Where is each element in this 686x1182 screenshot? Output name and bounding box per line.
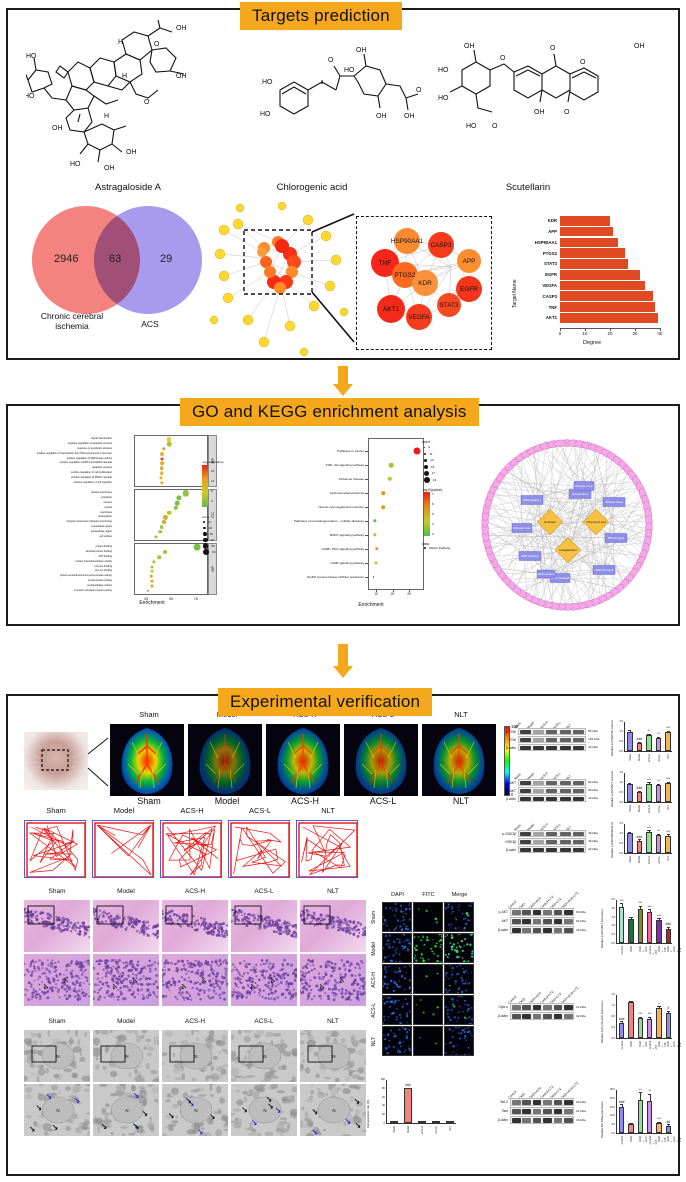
degree-bar-track: [560, 259, 660, 269]
blot-band: [543, 919, 552, 924]
blot-band: [543, 1109, 552, 1114]
go-term-label: positive regulation of MAPK cascade: [0, 476, 112, 479]
go-term-label: positive regulation of MAP kinase activi…: [0, 457, 112, 460]
svg-text:HO: HO: [26, 93, 35, 100]
blot-band: [512, 1014, 521, 1019]
bar-significance: ***: [620, 899, 624, 903]
bar: [646, 784, 652, 802]
svg-text:OH: OH: [176, 25, 187, 32]
tem-image-acs-h-bottom: N: [162, 1084, 228, 1136]
go-xtick: 75: [194, 597, 198, 601]
bar-errorbar: [631, 1001, 632, 1002]
go-legend-tick: 12: [211, 476, 214, 486]
network-pathway-label: Pathways of neur: [575, 485, 593, 488]
bar-errorbar-cap: [639, 906, 642, 907]
bar-xtick-label: ACS-L: [658, 754, 661, 762]
blot-protein-label: β-actin: [484, 928, 508, 932]
bar-xtick-label: ACS-H: [421, 1126, 424, 1134]
openfield-trace-acs-l: [228, 820, 290, 878]
bar: [628, 1124, 633, 1133]
blot-band: [522, 928, 531, 933]
bar-xtick-label: OGD: [630, 946, 633, 952]
degree-tick-label: 0: [559, 331, 561, 336]
tem-label-model: Model: [93, 1018, 159, 1025]
he-image-nlt-top: [300, 900, 366, 952]
bar-significance: ***: [647, 826, 651, 830]
kegg-legend-size-label: 13: [430, 458, 433, 462]
targets-prediction-panel: OHHO HOOH OHH HH HOOH OHO O: [6, 8, 680, 360]
go-dotplot: BPsignal transductionnegative regulation…: [16, 434, 248, 614]
kegg-legend-color-tick: 7: [432, 492, 434, 496]
bar-ytick-label: 10.0: [603, 1114, 615, 1117]
he-image-acs-l-bottom: [231, 954, 297, 1006]
bar-significance: **: [639, 1088, 642, 1092]
go-term-label: cell surface: [0, 535, 112, 538]
go-term-label: protein homodimerization activity: [0, 560, 112, 563]
compound-label-scutellarin: Scutellarin: [448, 182, 608, 193]
bar-errorbar-cap: [639, 1092, 642, 1093]
bar-errorbar: [639, 742, 640, 743]
bar-errorbar: [630, 783, 631, 784]
tunel-image-sham-dapi: [382, 902, 412, 932]
go-term-label: apoptotic process: [0, 466, 112, 469]
tem-image-acs-l-top: N: [231, 1030, 297, 1082]
svg-text:O: O: [492, 123, 498, 130]
bar: [665, 836, 671, 853]
chlorogenic-acid-structure: HOHO OHO HOO OHOH: [260, 44, 430, 154]
bar-errorbar-cap: [647, 830, 650, 831]
blot-band: [522, 1005, 531, 1010]
bar-ytick-label: 0.5: [603, 933, 615, 936]
bar-ytick-label: 1.0: [603, 924, 615, 927]
blot-band: [533, 919, 542, 924]
go-term-label: response to xenobiotic stimulus: [0, 447, 112, 450]
blot-band: [520, 832, 531, 836]
tunel-image-acs-l-dapi: [382, 995, 412, 1025]
blot-protein-label: AKT: [494, 789, 516, 793]
kegg-xtick-label: 20: [391, 592, 395, 596]
degree-bar-track: [560, 302, 660, 312]
bar-significance: ***: [648, 905, 652, 909]
bar: [656, 785, 662, 802]
bar-errorbar-cap: [628, 832, 631, 833]
kegg-plot-box: [368, 438, 424, 590]
bar-errorbar-cap: [620, 1104, 623, 1105]
blot-protein-label: p-GSK3β: [494, 832, 516, 836]
kegg-legend-color-tick: 3: [432, 532, 434, 536]
kegg-xlabel: Enrichment: [336, 602, 406, 608]
degree-bar-row: TNF: [526, 302, 660, 312]
blot-band: [546, 848, 557, 852]
degree-bar-track: [560, 216, 660, 226]
blot-band: [533, 1118, 542, 1123]
openfield-label-acs-l: ACS-L: [228, 806, 292, 815]
kegg-xtick-label: 25: [407, 592, 411, 596]
degree-bar-label: EGFR: [526, 272, 560, 277]
blot-kda-label: 12 kDa: [576, 1005, 586, 1009]
go-dot: [150, 570, 153, 573]
blot-band: [520, 848, 531, 852]
go-term-label: membrane: [0, 511, 112, 514]
blot-band: [512, 910, 521, 915]
bar-chart-ylabel: Relative Bcl-2/Bax expression: [600, 1088, 604, 1138]
bar-ytick-label: 20: [373, 1113, 385, 1116]
bar-significance: ***: [666, 830, 670, 834]
kegg-pathway-label: cGMP- PKG signaling pathway: [258, 547, 364, 551]
blot-band: [520, 746, 531, 750]
blot-protein-label: AKT: [484, 919, 508, 923]
blot-band: [560, 781, 571, 785]
go-dot: [167, 442, 172, 447]
svg-text:HO: HO: [466, 123, 477, 130]
bar-xtick-label: Control: [621, 946, 624, 954]
degree-bar: [560, 313, 658, 323]
bar-xtick-label: Control: [621, 1136, 624, 1144]
bar: [665, 783, 671, 802]
bar-errorbar: [631, 918, 632, 920]
go-term-label: integral component of plasma membrane: [0, 520, 112, 523]
bar-significance: ###: [619, 1017, 625, 1021]
bar: [637, 792, 643, 802]
blot-band: [520, 781, 531, 785]
svg-text:N: N: [263, 1108, 266, 1113]
bar-errorbar: [630, 730, 631, 731]
blot-band: [546, 746, 557, 750]
go-dot: [150, 580, 153, 583]
blot-kda-label: 60 kDa: [576, 910, 586, 914]
degree-bar-row: PTGS2: [526, 248, 660, 258]
bar-xtick-label: Sham: [629, 856, 632, 863]
kegg-pathway-label: Alzheimer disease: [258, 477, 364, 481]
blot-band: [564, 919, 573, 924]
blot-band: [522, 1109, 531, 1114]
bar-ytick-label: 25.0: [603, 1088, 615, 1091]
openfield-label-nlt: NLT: [296, 806, 360, 815]
bar-errorbar-cap: [638, 791, 641, 792]
blot-band: [533, 1100, 542, 1105]
bar-ytick-label: 15.0: [603, 1106, 615, 1109]
he-image-model-bottom: [93, 954, 159, 1006]
svg-text:H: H: [104, 113, 109, 120]
bar-ytick-label: 80: [373, 1087, 385, 1090]
network-pathway-label: cGMP-PKG signali: [594, 570, 614, 572]
blot-band: [533, 1109, 542, 1114]
bar: [656, 738, 662, 751]
bar-xtick-label: Model: [638, 856, 641, 863]
network-compound-label: Chlorogenic acid: [586, 520, 606, 524]
blot-band: [533, 781, 544, 785]
bar-errorbar: [640, 1017, 641, 1018]
blot-band: [560, 848, 571, 852]
bar-ytick-label: 0: [373, 1122, 385, 1125]
kegg-legend-size-dot: [424, 477, 430, 483]
network-pathway-label: cAMP signaling p: [521, 555, 539, 558]
speckle-image-acs-l: [344, 724, 418, 796]
blot-band: [533, 848, 544, 852]
blot-band: [543, 1014, 552, 1019]
go-term-label: protein binding: [0, 545, 112, 548]
bar-xtick-label: Sham: [629, 754, 632, 761]
bar-significance: ***: [638, 1012, 642, 1016]
blot-band: [546, 730, 557, 734]
bar-significance: ***: [666, 777, 670, 781]
bar-errorbar: [622, 1105, 623, 1107]
blot-band: [520, 789, 531, 793]
bar-chart-ylabel: Relative Cyto-c/β-actin expression: [600, 993, 604, 1043]
degree-bar-row: AKT1: [526, 313, 660, 323]
tunel-image-nlt-merge: [444, 1026, 474, 1056]
tem-image-acs-h-top: N: [162, 1030, 228, 1082]
blot-protein-label: β-actin: [484, 1014, 508, 1018]
degree-tick-label: 40: [658, 331, 663, 336]
go-legend-size-dot: [203, 538, 208, 543]
venn-count-intersection: 63: [109, 253, 121, 265]
bar-significance: **: [657, 779, 660, 783]
bar-ytick-label: 1.5: [603, 916, 615, 919]
kegg-legend-class-label: KEGG Pathway: [429, 546, 451, 550]
go-legend-color-title: -log_adj(pvalue): [202, 460, 248, 464]
bar-xtick-label: ACS-H: [648, 856, 651, 864]
bar-significance: ##: [666, 1120, 670, 1124]
tem-image-nlt-top: N: [300, 1030, 366, 1082]
blot-band: [573, 781, 584, 785]
bar: [627, 732, 633, 751]
go-term-label: extracellular region: [0, 530, 112, 533]
svg-text:N: N: [125, 1108, 128, 1113]
blot-protein-label: Cyto-c: [484, 1005, 508, 1009]
blot-group-invivo-1: ShamModelACS-HACS-LNLTp-AKT62 kDaAKT60 k…: [506, 767, 680, 817]
bar-xtick-label: OGD + LTZ: [658, 1136, 667, 1142]
bar-xtick-label: Control + LTZ: [649, 1136, 658, 1144]
bar-chart-plot: ###********: [624, 773, 672, 803]
tunel-row-label-text: Sham: [371, 911, 377, 924]
svg-text:HO: HO: [262, 79, 273, 86]
bar-xtick-label: OGD + LTZ: [658, 1041, 667, 1047]
blot-band: [573, 746, 584, 750]
tem-image-sham-top: N: [24, 1030, 90, 1082]
degree-bar-track: [560, 291, 660, 301]
bar-errorbar: [668, 835, 669, 836]
blot-band: [564, 1100, 573, 1105]
bar-ytick-label: 40: [373, 1104, 385, 1107]
blot-band: [573, 789, 584, 793]
blot-kda-label: 42 kDa: [588, 745, 598, 749]
degree-bar-track: [560, 238, 660, 248]
blot-kda-label: 85 kDa: [588, 729, 598, 733]
speckle-image-acs-h: [266, 724, 340, 796]
bar-significance: #: [667, 1006, 669, 1010]
blot-band: [546, 797, 557, 801]
degree-bar: [560, 291, 653, 301]
bar-errorbar: [640, 906, 641, 909]
degree-bar-row: KDR: [526, 216, 660, 226]
bar-errorbar-cap: [667, 834, 670, 835]
tem-image-model-top: N: [93, 1030, 159, 1082]
blot-band: [522, 1100, 531, 1105]
blot-chart-invivo-1: ###********ShamModelACS-HACS-LNLT0.00.51…: [610, 771, 680, 817]
go-dot: [151, 565, 154, 568]
go-term-label: positive regulation of transcription fro…: [0, 452, 112, 455]
tem-image-sham-bottom: N: [24, 1084, 90, 1136]
venn-label-acs: ACS: [130, 320, 170, 330]
kegg-legend-colorbar: [424, 492, 430, 536]
svg-text:AKT1: AKT1: [383, 306, 399, 313]
network-edge: [530, 556, 540, 602]
degree-bar-row: EGFR: [526, 270, 660, 280]
bar-errorbar: [639, 840, 640, 841]
go-term-label: signal transduction: [0, 437, 112, 440]
bar-errorbar: [649, 734, 650, 735]
kegg-pathway-label: EGFR tyrosine kinase inhibitor resistanc…: [258, 575, 364, 579]
go-legend-size-label: 50: [211, 544, 214, 548]
bar: [627, 833, 633, 853]
scutellarin-structure: OHHO HOHO OO OOH OOH O: [438, 30, 670, 160]
bar-errorbar-cap: [620, 903, 623, 904]
blot-band: [512, 1118, 521, 1123]
svg-text:OH: OH: [534, 109, 545, 116]
network-pathway-label: PI3K-Akt signali: [608, 537, 625, 540]
bar-xtick-label: Sham: [629, 805, 632, 812]
bar-errorbar-cap: [657, 784, 660, 785]
go-dot: [157, 555, 161, 559]
go-dot: [160, 466, 164, 470]
compound-label-astragaloside: Astragaloside A: [48, 182, 208, 193]
bar-errorbar: [659, 919, 660, 920]
kegg-dot: [413, 448, 420, 455]
bar-errorbar: [659, 834, 660, 835]
blot-band: [533, 1014, 542, 1019]
go-dot: [162, 520, 166, 524]
blot-band: [573, 730, 584, 734]
bar-significance: ***: [657, 1117, 661, 1121]
tunel-image-nlt-dapi: [382, 1026, 412, 1056]
degree-tick-label: 30: [633, 331, 638, 336]
svg-text:OH: OH: [176, 73, 187, 80]
go-legend-size-label: 40: [211, 538, 214, 542]
arrow-enrichment-to-experimental: [333, 644, 353, 678]
network-compound-label: Astragaloside A: [559, 548, 577, 552]
bar-ytick-label: 0.0: [603, 942, 615, 945]
bar-ytick-label: 2.5: [603, 898, 615, 901]
blot-band: [564, 910, 573, 915]
he-label-acs-h: ACS-H: [162, 888, 228, 895]
tunel-column-label-merge: Merge: [444, 892, 475, 898]
degree-bar-label: TNF: [526, 305, 560, 310]
blot-kda-label: 43 kDa: [576, 1118, 586, 1122]
bar-errorbar-cap: [628, 783, 631, 784]
bar: [656, 835, 662, 853]
blot-kda-label: 43 kDa: [576, 928, 586, 932]
blot-chart-invitro-0: ************###ControlOGDOGD + ACSContro…: [600, 898, 680, 980]
blot-kda-label: 46 kDa: [588, 831, 598, 835]
svg-text:OH: OH: [634, 43, 645, 50]
degree-bar-label: KDR: [526, 218, 560, 223]
network-edge: [486, 535, 616, 538]
mouse-skull-photo: [24, 732, 88, 790]
go-dot: [151, 584, 154, 587]
bar-significance: **: [648, 1089, 651, 1093]
blot-group-invitro-2: ControlOGDOGD+ACSControl+LTZOGD+LTZOGD+A…: [494, 1080, 680, 1174]
svg-text:EGFR: EGFR: [460, 286, 478, 293]
tunel-row-label-text: ACS-H: [371, 972, 377, 988]
bar-chart-ylabel: Relative p-AKT/AKT expression: [610, 771, 614, 807]
network-edge: [501, 476, 522, 528]
bar-errorbar-cap: [638, 839, 641, 840]
bar-errorbar-cap: [620, 1021, 623, 1022]
bar-xtick-label: Model: [407, 1126, 410, 1133]
bar-errorbar-cap: [667, 782, 670, 783]
bar-xtick-label: NLT: [667, 805, 670, 810]
tunel-image-sham-merge: [444, 902, 474, 932]
go-dot: [175, 501, 180, 506]
bar-significance: *: [658, 1002, 659, 1006]
speckle-group-label-bottom: ACS-H: [266, 796, 344, 806]
tunel-row-label-text: ACS-L: [371, 1003, 377, 1018]
bar: [418, 1121, 426, 1123]
blot-group-invivo-2: ShamModelACS-HACS-LNLTp-GSK3β46 kDaGSK3β…: [506, 818, 680, 868]
bar: [665, 732, 671, 751]
go-term-label: cytoplasm: [0, 496, 112, 499]
kegg-legend-size-dot: [424, 453, 426, 455]
tunel-image-sham-fitc: [413, 902, 443, 932]
section-title-enrichment: GO and KEGG enrichment analysis: [180, 398, 479, 426]
blot-chart-invivo-2: ###********ShamModelACS-HACS-LNLT0.00.51…: [610, 822, 680, 868]
blot-band: [533, 840, 544, 844]
blot-chart-invivo-0: ###*******ShamModelACS-HACS-LNLT0.00.51.…: [610, 720, 680, 766]
degree-bar-track: [560, 313, 660, 323]
blot-protein-label: p-PI3K: [494, 730, 516, 734]
kegg-legend-size-label: 17: [432, 471, 435, 475]
degree-bar: [560, 302, 655, 312]
network-pathway-label: EGFR tyrosine ki: [537, 573, 555, 576]
bar-ytick-label: 5.0: [603, 1123, 615, 1126]
openfield-label-model: Model: [92, 806, 156, 815]
blot-protein-label: GSK3β: [494, 840, 516, 844]
he-image-sham-top: [24, 900, 90, 952]
degree-bar: [560, 270, 640, 280]
section-title-experimental: Experimental verification: [218, 688, 432, 716]
bar-significance: ###: [619, 1100, 625, 1104]
go-term-label: nucleus: [0, 501, 112, 504]
bar-errorbar-cap: [667, 1011, 670, 1012]
bar: [647, 912, 652, 943]
blot-protein-label: β-actin: [484, 1118, 508, 1122]
bar-xtick-label: Model: [638, 754, 641, 761]
degree-bar-row: APP: [526, 227, 660, 237]
bar: [628, 919, 633, 943]
kegg-pathway-label: Pathways in cancer: [258, 449, 364, 453]
degree-bar-track: [560, 248, 660, 258]
svg-text:O: O: [564, 109, 570, 116]
bar: [666, 1126, 671, 1133]
kegg-legend-size-dot: [424, 459, 427, 462]
bar-xtick-label: OGD + ACS + LTZ: [667, 946, 682, 952]
kegg-legend-size-dot: [424, 447, 425, 448]
network-compound-label: Scutellarin: [544, 520, 557, 524]
go-legend-color-ticks: 161284: [211, 466, 214, 506]
speckle-image-model: [188, 724, 262, 796]
svg-text:TNF: TNF: [379, 260, 392, 267]
he-image-nlt-bottom: [300, 954, 366, 1006]
svg-text:APP: APP: [463, 258, 476, 265]
bar-chart-ylabel: Cell apoptosis rate (%): [366, 1078, 370, 1128]
bar: [446, 1121, 454, 1123]
degree-bar-label: STAT3: [526, 261, 560, 266]
he-label-nlt: NLT: [300, 888, 366, 895]
bar-xtick-label: ACS-H: [648, 805, 651, 813]
bar-xtick-label: OGD + ACS: [639, 1136, 648, 1142]
degree-bar: [560, 216, 610, 226]
